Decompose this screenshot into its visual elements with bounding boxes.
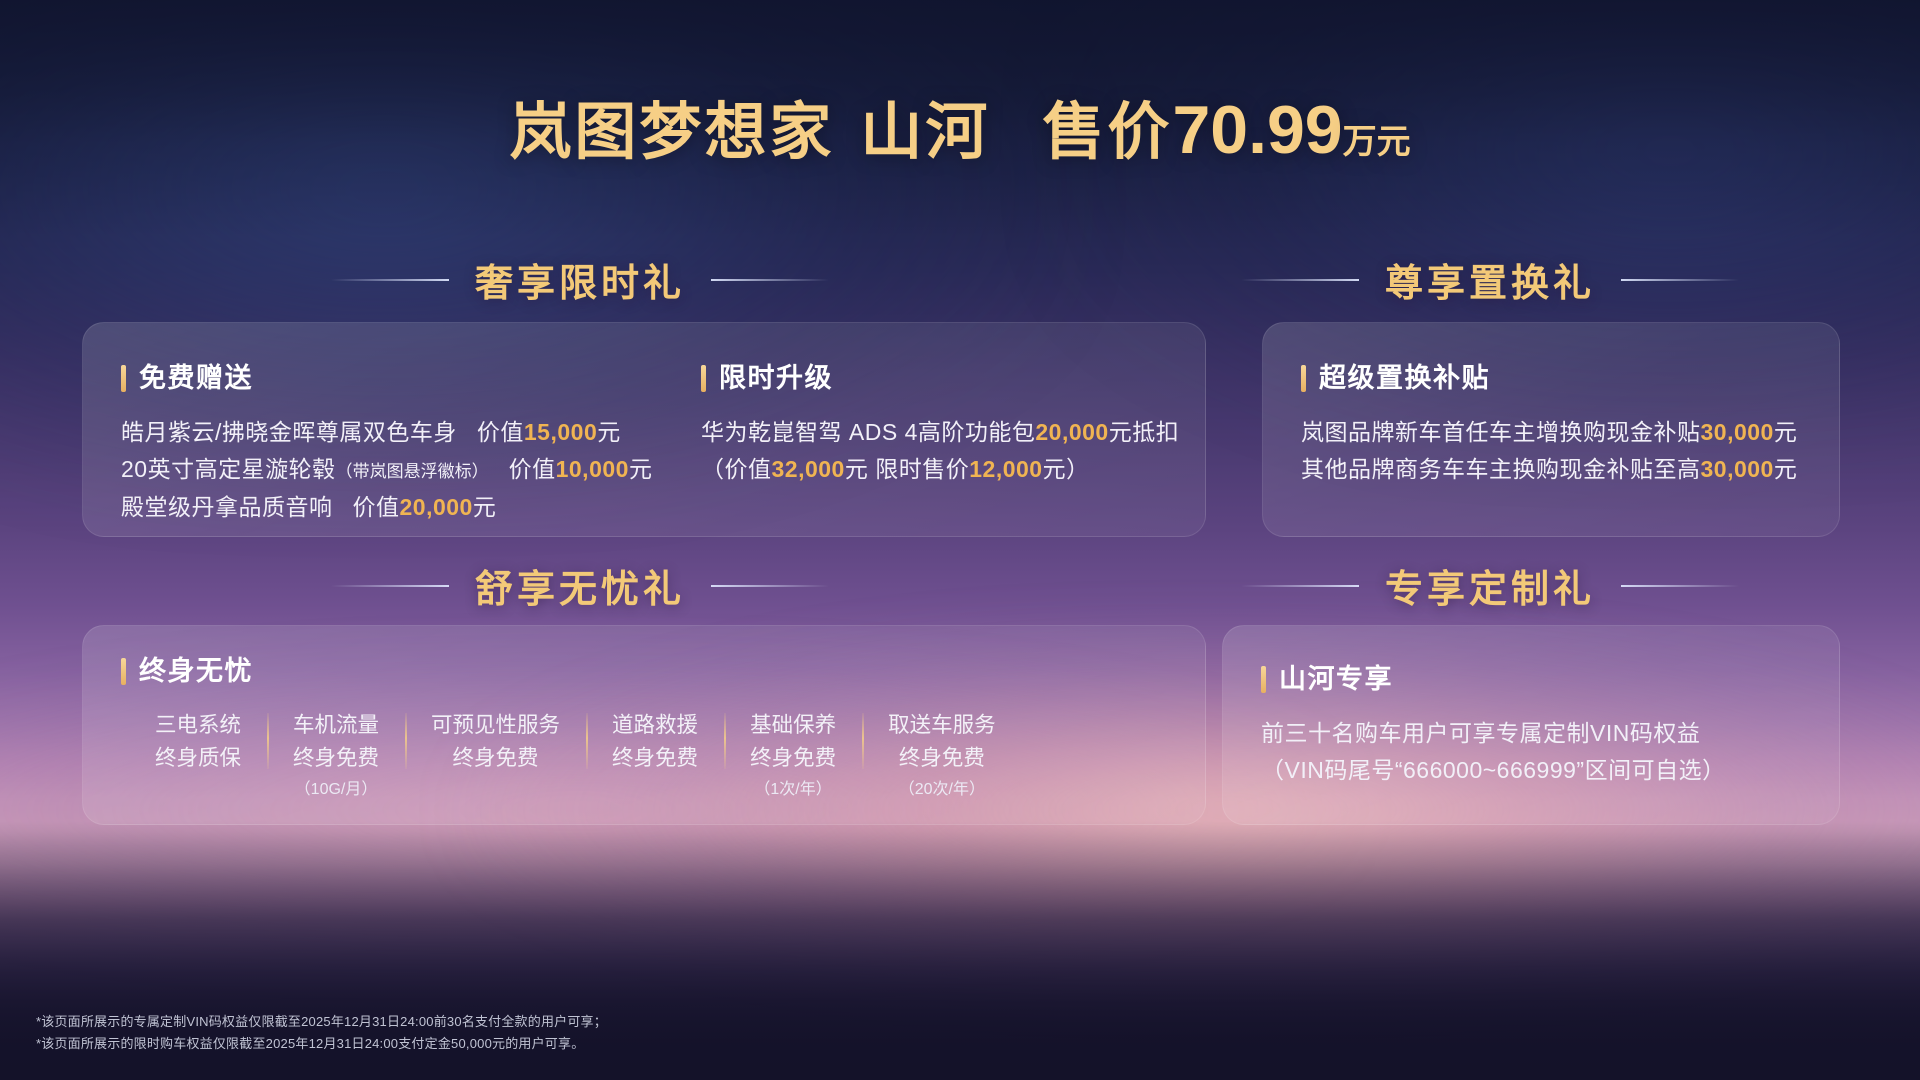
list-item: 殿堂级丹拿品质音响价值20,000元 <box>121 489 701 526</box>
footnote-line: *该页面所展示的限时购车权益仅限截至2025年12月31日24:00支付定金50… <box>36 1033 607 1056</box>
item-value-label: 价值 <box>477 419 524 445</box>
section-header-premium-trade-in-gift: 尊享置换礼 <box>1230 252 1750 307</box>
list-item: 皓月紫云/拂晓金晖尊属双色车身价值15,000元 <box>121 414 701 451</box>
poster-stage: 岚图梦想家山河售价70.99万元 奢享限时礼 尊享置换礼 免费赠送 皓月紫云/拂… <box>0 0 1920 1080</box>
item-value-label: 价值 <box>353 494 400 520</box>
hero-model: 岚图梦想家 <box>509 98 834 167</box>
block-lifetime-carefree: 终身无忧 三电系统 终身质保 车机流量 终身免费 （10G/月） 可预见性服务 … <box>121 658 1181 803</box>
item-prefix: 岚图品牌新车首任车主增换购现金补贴 <box>1301 419 1701 445</box>
lifetime-benefit-row: 三电系统 终身质保 车机流量 终身免费 （10G/月） 可预见性服务 终身免费 … <box>129 709 1181 803</box>
list-item: 三电系统 终身质保 <box>129 709 267 778</box>
item-unit: 元 <box>629 456 653 482</box>
item-amount: 15,000 <box>524 419 597 445</box>
item-suffix: 元） <box>1043 456 1090 482</box>
card-exclusive-custom-gift: 山河专享 前三十名购车用户可享专属定制VIN码权益 （VIN码尾号“666000… <box>1222 625 1840 825</box>
list-item: （VIN码尾号“666000~666999”区间可自选） <box>1261 752 1821 789</box>
block-title-text: 山河专享 <box>1279 666 1393 693</box>
card-carefree-gift: 终身无忧 三电系统 终身质保 车机流量 终身免费 （10G/月） 可预见性服务 … <box>82 625 1206 825</box>
item-suffix: 元 <box>1774 419 1798 445</box>
accent-bar-icon <box>701 365 706 392</box>
benefit-value: 终身免费 <box>612 746 698 770</box>
limited-upgrade-line-list: 华为乾崑智驾 ADS 4高阶功能包20,000元抵扣 （价值32,000元 限时… <box>701 414 1201 489</box>
item-desc: 20英寸高定星漩轮毂 <box>121 456 336 482</box>
item-unit: 元 <box>597 419 621 445</box>
benefit-sub: （1次/年） <box>750 778 836 802</box>
block-title-super-trade-in-subsidy: 超级置换补贴 <box>1301 365 1821 392</box>
hero-title-wrap: 岚图梦想家山河售价70.99万元 <box>0 96 1920 164</box>
block-title-text: 终身无忧 <box>139 658 253 685</box>
list-item: 车机流量 终身免费 （10G/月） <box>267 709 405 803</box>
section-title-text: 舒享无忧礼 <box>475 558 685 613</box>
benefit-name: 取送车服务 <box>888 713 996 737</box>
list-item: 前三十名购车用户可享专属定制VIN码权益 <box>1261 715 1821 752</box>
page-title: 岚图梦想家山河售价70.99万元 <box>509 96 1410 164</box>
list-item: 基础保养 终身免费 （1次/年） <box>724 709 862 803</box>
accent-bar-icon <box>1261 666 1266 693</box>
benefit-value: 终身质保 <box>155 746 241 770</box>
benefit-name: 基础保养 <box>750 713 836 737</box>
item-amount: 32,000 <box>772 456 845 482</box>
benefit-name: 可预见性服务 <box>431 713 560 737</box>
item-amount: 20,000 <box>400 494 473 520</box>
item-amount-secondary: 12,000 <box>969 456 1042 482</box>
block-title-lifetime-carefree: 终身无忧 <box>121 658 1181 685</box>
item-prefix: （价值 <box>701 456 772 482</box>
section-title-text: 奢享限时礼 <box>475 252 685 307</box>
item-note: （带岚图悬浮徽标） <box>336 462 489 481</box>
block-free-gift: 免费赠送 皓月紫云/拂晓金晖尊属双色车身价值15,000元 20英寸高定星漩轮毂… <box>121 365 701 526</box>
free-gift-line-list: 皓月紫云/拂晓金晖尊属双色车身价值15,000元 20英寸高定星漩轮毂（带岚图悬… <box>121 414 701 526</box>
divider-line-left <box>1241 585 1359 587</box>
block-super-trade-in-subsidy: 超级置换补贴 岚图品牌新车首任车主增换购现金补贴30,000元 其他品牌商务车车… <box>1301 365 1821 489</box>
section-header-exclusive-custom-gift: 专享定制礼 <box>1230 558 1750 613</box>
divider-line-left <box>1241 279 1359 281</box>
block-title-text: 免费赠送 <box>139 365 253 392</box>
divider-line-right <box>711 585 829 587</box>
item-desc: 殿堂级丹拿品质音响 <box>121 494 333 520</box>
item-unit: 元 <box>473 494 497 520</box>
trade-in-line-list: 岚图品牌新车首任车主增换购现金补贴30,000元 其他品牌商务车车主换购现金补贴… <box>1301 414 1821 489</box>
hero-price-unit: 万元 <box>1343 123 1411 161</box>
item-amount: 30,000 <box>1701 456 1774 482</box>
item-suffix: 元抵扣 <box>1109 419 1180 445</box>
block-title-text: 超级置换补贴 <box>1319 365 1490 392</box>
block-title-limited-upgrade: 限时升级 <box>701 365 1201 392</box>
section-header-carefree-gift: 舒享无忧礼 <box>300 558 860 613</box>
hero-price-value: 70.99 <box>1172 92 1342 168</box>
list-item: 岚图品牌新车首任车主增换购现金补贴30,000元 <box>1301 414 1821 451</box>
card-premium-trade-in-gift: 超级置换补贴 岚图品牌新车首任车主增换购现金补贴30,000元 其他品牌商务车车… <box>1262 322 1840 537</box>
divider-line-right <box>711 279 829 281</box>
benefit-value: 终身免费 <box>750 746 836 770</box>
divider-line-left <box>331 279 449 281</box>
divider-line-left <box>331 585 449 587</box>
accent-bar-icon <box>121 658 126 685</box>
benefit-sub: （10G/月） <box>293 778 379 802</box>
item-desc: 皓月紫云/拂晓金晖尊属双色车身 <box>121 419 457 445</box>
hero-price-label: 售价 <box>1042 98 1172 167</box>
block-title-text: 限时升级 <box>719 365 833 392</box>
list-item: 20英寸高定星漩轮毂（带岚图悬浮徽标）价值10,000元 <box>121 451 701 488</box>
benefit-value: 终身免费 <box>899 746 985 770</box>
hero-edition: 山河 <box>860 98 990 167</box>
footnotes: *该页面所展示的专属定制VIN码权益仅限截至2025年12月31日24:00前3… <box>36 1011 607 1057</box>
list-item: 华为乾崑智驾 ADS 4高阶功能包20,000元抵扣 <box>701 414 1201 451</box>
item-amount: 10,000 <box>556 456 629 482</box>
section-title-text: 尊享置换礼 <box>1385 252 1595 307</box>
block-title-free-gift: 免费赠送 <box>121 365 701 392</box>
item-suffix: 元 <box>1774 456 1798 482</box>
block-title-shanhe-exclusive: 山河专享 <box>1261 666 1821 693</box>
footnote-line: *该页面所展示的专属定制VIN码权益仅限截至2025年12月31日24:00前3… <box>36 1011 607 1034</box>
item-amount: 20,000 <box>1035 419 1108 445</box>
section-header-luxury-limited-gift: 奢享限时礼 <box>300 252 860 307</box>
list-item: （价值32,000元 限时售价12,000元） <box>701 451 1201 488</box>
item-mid: 元 限时售价 <box>845 456 969 482</box>
item-value-label: 价值 <box>509 456 556 482</box>
list-item: 道路救援 终身免费 <box>586 709 724 778</box>
list-item: 取送车服务 终身免费 （20次/年） <box>862 709 1022 803</box>
list-item: 可预见性服务 终身免费 <box>405 709 586 778</box>
divider-line-right <box>1621 279 1739 281</box>
benefit-value: 终身免费 <box>453 746 539 770</box>
block-shanhe-exclusive: 山河专享 前三十名购车用户可享专属定制VIN码权益 （VIN码尾号“666000… <box>1261 666 1821 790</box>
shanhe-line-list: 前三十名购车用户可享专属定制VIN码权益 （VIN码尾号“666000~6669… <box>1261 715 1821 790</box>
benefit-sub: （20次/年） <box>888 778 996 802</box>
list-item: 其他品牌商务车车主换购现金补贴至高30,000元 <box>1301 451 1821 488</box>
section-title-text: 专享定制礼 <box>1385 558 1595 613</box>
accent-bar-icon <box>1301 365 1306 392</box>
block-limited-upgrade: 限时升级 华为乾崑智驾 ADS 4高阶功能包20,000元抵扣 （价值32,00… <box>701 365 1201 489</box>
benefit-name: 道路救援 <box>612 713 698 737</box>
item-prefix: 华为乾崑智驾 ADS 4高阶功能包 <box>701 419 1035 445</box>
divider-line-right <box>1621 585 1739 587</box>
item-amount: 30,000 <box>1701 419 1774 445</box>
card-luxury-limited-gift: 免费赠送 皓月紫云/拂晓金晖尊属双色车身价值15,000元 20英寸高定星漩轮毂… <box>82 322 1206 537</box>
item-prefix: 其他品牌商务车车主换购现金补贴至高 <box>1301 456 1701 482</box>
benefit-value: 终身免费 <box>293 746 379 770</box>
benefit-name: 三电系统 <box>155 713 241 737</box>
accent-bar-icon <box>121 365 126 392</box>
benefit-name: 车机流量 <box>293 713 379 737</box>
